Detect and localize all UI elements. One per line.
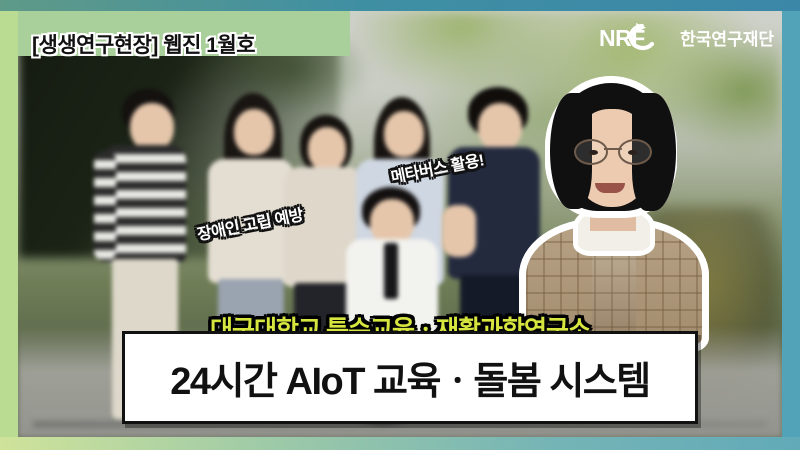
head [130, 103, 174, 151]
head [308, 127, 346, 171]
lens-right [618, 139, 652, 165]
head [234, 109, 274, 155]
frame-edge-bottom [0, 437, 800, 450]
main-title-text: 24시간 AIoT 교육ㆍ돌봄 시스템 [170, 350, 649, 405]
issue-banner: [생생연구현장] 웹진 1월호 [0, 11, 350, 56]
glasses-icon [572, 139, 654, 161]
eye-right [628, 150, 637, 155]
arm [442, 205, 476, 257]
frame-edge-right [782, 11, 800, 437]
head [478, 103, 522, 151]
frame-edge-top [0, 0, 800, 11]
issue-banner-label: [생생연구현장] 웹진 1월호 [32, 29, 255, 59]
arm [94, 151, 116, 261]
head [384, 111, 424, 157]
necktie [384, 243, 398, 299]
svg-text:NRF: NRF [599, 25, 645, 51]
video-thumbnail: 장애인 고립 예방 메타버스 활용! 대구대학교 특수교육ㆍ재활과학연구소 [생… [0, 0, 800, 450]
presenter-cutout [518, 83, 708, 343]
nrf-logo: NRF 한국연구재단 [597, 22, 774, 52]
frame-edge-left [0, 11, 18, 437]
lens-left [574, 139, 608, 165]
nrf-org-name: 한국연구재단 [680, 25, 774, 50]
nrf-circular-arrow-icon: NRF [597, 22, 671, 52]
main-title-box: 24시간 AIoT 교육ㆍ돌봄 시스템 [122, 331, 698, 424]
eye-left [589, 150, 598, 155]
